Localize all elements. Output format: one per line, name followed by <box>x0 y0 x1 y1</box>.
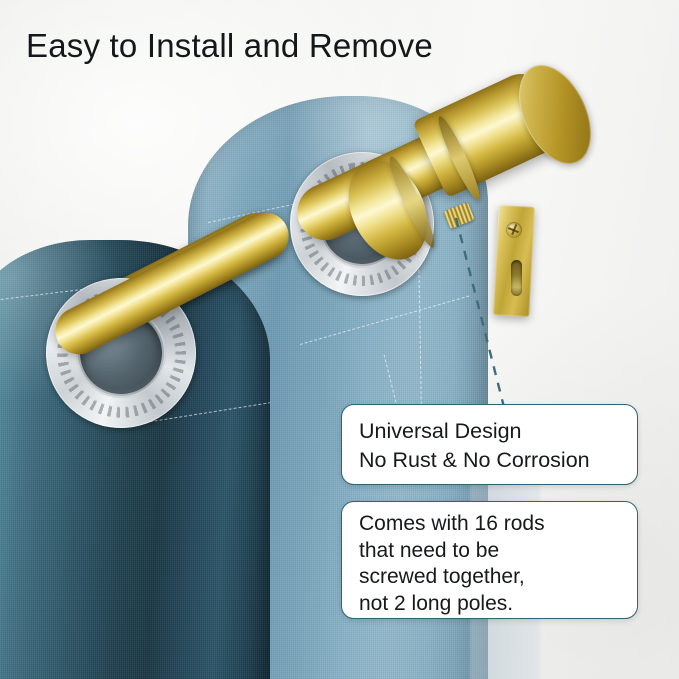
callout-line: screwed together, <box>359 564 621 591</box>
bracket-screw <box>506 222 522 238</box>
callout-line: No Rust & No Corrosion <box>359 446 621 475</box>
callout-line: that need to be <box>359 538 621 565</box>
callout-line-emphasis: not 2 long poles. <box>359 591 621 618</box>
bracket-keyhole-slot <box>511 260 522 296</box>
product-infographic: Easy to Install and Remove Universal Des… <box>0 0 679 679</box>
page-title: Easy to Install and Remove <box>26 26 433 66</box>
callout-emphasis-text: not 2 long poles <box>359 592 507 615</box>
callout-emphasis-tail: . <box>507 592 513 615</box>
callout-rod-count: Comes with 16 rods that need to be screw… <box>341 501 638 619</box>
callout-line: Comes with 16 rods <box>359 511 621 538</box>
callout-line: Universal Design <box>359 417 621 446</box>
callout-universal-design: Universal Design No Rust & No Corrosion <box>341 404 638 485</box>
